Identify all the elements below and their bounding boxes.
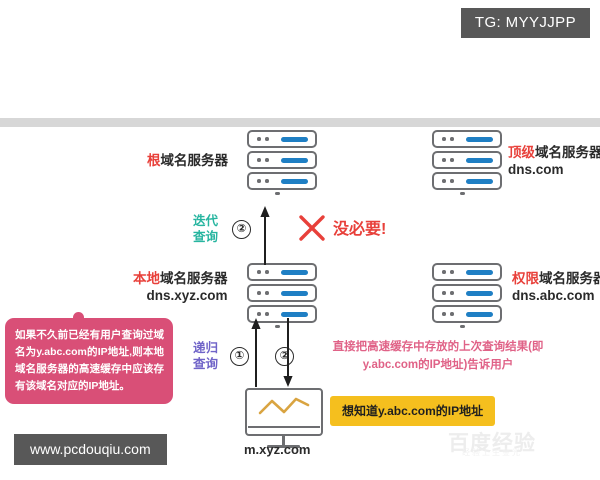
authoritative-dns-server-node (432, 263, 506, 331)
root-server-label-rest: 域名服务器 (161, 153, 229, 168)
server-unit (247, 151, 317, 169)
server-unit (247, 172, 317, 190)
server-unit (247, 284, 317, 302)
recursive-query-label: 递归 查询 (193, 340, 218, 373)
server-unit (432, 305, 502, 323)
server-unit (432, 172, 502, 190)
user-request-box: 想知道y.abc.com的IP地址 (330, 396, 495, 426)
authoritative-server-domain: dns.abc.com (512, 288, 600, 305)
tld-server-label: 顶级域名服务器 dns.com (508, 145, 600, 179)
arrow-client-to-local (247, 317, 265, 389)
local-server-domain: dns.xyz.com (133, 288, 228, 305)
server-unit (432, 284, 502, 302)
local-server-label-rest: 域名服务器 (160, 271, 228, 286)
server-icon (247, 130, 321, 198)
server-unit (432, 151, 502, 169)
watermark-sub: 经验上生金光 (462, 447, 522, 458)
root-dns-server-node (247, 130, 321, 198)
iterative-query-line1: 迭代 (193, 213, 218, 229)
authoritative-server-label-rest: 域名服务器 (539, 271, 600, 286)
cache-result-note: 直接把高速缓存中存放的上次查询结果(即y.abc.com的IP地址)告诉用户 (310, 339, 566, 375)
local-server-label-highlight: 本地 (133, 271, 160, 286)
arrow-local-to-client (279, 317, 297, 389)
monitor-divider (248, 426, 321, 428)
recursive-query-line2: 查询 (193, 356, 218, 372)
telegram-badge: TG: MYYJJPP (461, 8, 590, 38)
top-divider-band (0, 118, 600, 127)
iterative-query-line2: 查询 (193, 229, 218, 245)
diagram-panel: 根域名服务器 顶级域名服务器 dns.com (0, 55, 600, 425)
authoritative-server-label: 权限域名服务器 dns.abc.com (512, 271, 600, 305)
cross-icon (297, 213, 327, 243)
root-server-label: 根域名服务器 (147, 153, 228, 170)
arrow-local-to-root (256, 205, 274, 267)
tld-server-label-rest: 域名服务器 (535, 145, 600, 160)
cache-explanation-callout: 如果不久前已经有用户查询过域名为y.abc.com的IP地址,则本地域名服务器的… (5, 318, 173, 404)
tld-dns-server-node (432, 130, 506, 198)
server-icon (432, 130, 506, 198)
server-unit (247, 130, 317, 148)
local-server-label: 本地域名服务器 dns.xyz.com (133, 271, 228, 305)
tld-server-label-highlight: 顶级 (508, 145, 535, 160)
iterative-query-label: 迭代 查询 (193, 213, 218, 246)
recursive-query-line1: 递归 (193, 340, 218, 356)
server-unit (432, 130, 502, 148)
wave-icon (258, 396, 310, 420)
server-foot (460, 192, 465, 195)
no-need-text: 没必要! (333, 215, 386, 239)
server-icon (432, 263, 506, 331)
client-domain-label: m.xyz.com (244, 442, 310, 457)
step-marker-iterative-2: ② (232, 220, 251, 239)
server-foot (460, 325, 465, 328)
root-server-label-highlight: 根 (147, 153, 161, 168)
server-foot (275, 192, 280, 195)
authoritative-server-label-highlight: 权限 (512, 271, 539, 286)
server-unit (432, 263, 502, 281)
site-url-badge: www.pcdouqiu.com (14, 434, 167, 465)
tld-server-domain: dns.com (508, 162, 600, 179)
